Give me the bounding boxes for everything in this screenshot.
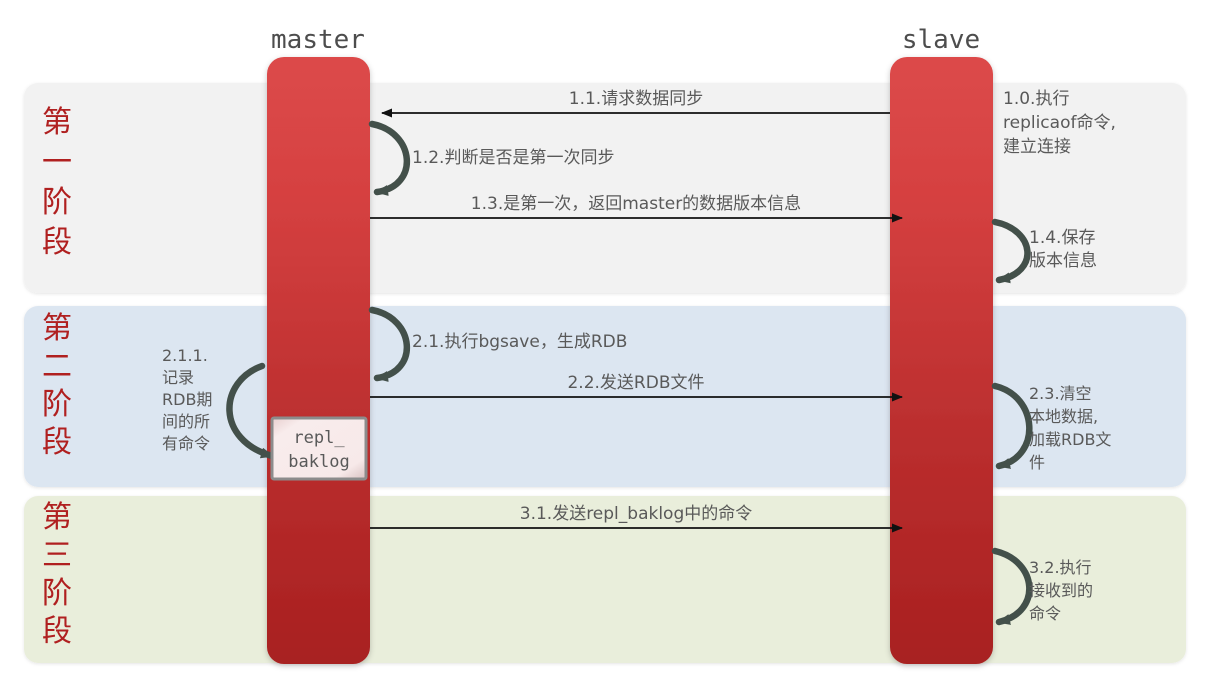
phase-3-char-0: 第: [42, 500, 72, 535]
replication-sequence-diagram: 第 一 阶 段 第 二 阶 段 第 三 阶 段 master slave 1.1…: [0, 0, 1224, 675]
self-action-2-1-1-line-2: RDB期: [162, 390, 212, 409]
sequence-diagram-canvas: 第 一 阶 段 第 二 阶 段 第 三 阶 段 master slave 1.1…: [0, 0, 1224, 675]
self-action-3-2-line-2: 命令: [1029, 604, 1061, 623]
self-action-2-1-label: 2.1.执行bgsave，生成RDB: [412, 332, 627, 352]
self-action-1-2-label: 1.2.判断是否是第一次同步: [412, 148, 614, 168]
phase-1-char-1: 一: [42, 145, 72, 180]
repl-baklog-line-0: repl_: [293, 428, 345, 448]
phase-3-char-1: 三: [42, 538, 72, 573]
self-action-2-1-1-line-1: 记录: [162, 368, 194, 387]
self-action-2-3-line-0: 2.3.清空: [1029, 384, 1092, 403]
self-action-3-2-line-0: 3.2.执行: [1029, 558, 1092, 577]
lifeline-title-slave: slave: [902, 25, 980, 55]
self-action-1-0-line-2: 建立连接: [1003, 137, 1071, 157]
repl-baklog-box[interactable]: repl_ baklog: [272, 418, 366, 479]
lifeline-master[interactable]: [267, 57, 370, 664]
self-action-1-4-line-1: 版本信息: [1029, 251, 1097, 271]
message-2-2-label: 2.2.发送RDB文件: [567, 373, 704, 393]
self-action-1-4-line-0: 1.4.保存: [1029, 228, 1095, 248]
message-1-3-label: 1.3.是第一次，返回master的数据版本信息: [471, 194, 801, 214]
self-action-2-1-1-line-0: 2.1.1.: [162, 346, 208, 365]
lifeline-slave[interactable]: [890, 57, 993, 664]
phase-2-char-1: 二: [42, 349, 72, 384]
self-action-3-2-line-1: 接收到的: [1029, 581, 1093, 600]
self-action-2-1-1-line-3: 间的所: [162, 412, 210, 431]
phase-1-char-3: 段: [42, 225, 72, 260]
lifeline-title-master: master: [271, 25, 365, 55]
phase-3-char-2: 阶: [42, 576, 72, 611]
phase-2-char-2: 阶: [42, 387, 72, 422]
phase-3-char-3: 段: [42, 614, 72, 649]
message-1-1-label: 1.1.请求数据同步: [569, 89, 703, 109]
repl-baklog-line-1: baklog: [288, 452, 349, 472]
self-action-2-1-1-line-4: 有命令: [162, 434, 210, 453]
message-3-1-label: 3.1.发送repl_baklog中的命令: [520, 504, 753, 524]
self-action-2-3-line-3: 件: [1029, 453, 1045, 472]
self-action-2-3-line-1: 本地数据,: [1029, 407, 1098, 426]
phase-2-char-3: 段: [42, 425, 72, 460]
self-action-2-3-line-2: 加载RDB文: [1029, 430, 1111, 449]
self-action-1-0-line-0: 1.0.执行: [1003, 89, 1069, 109]
phase-1-char-2: 阶: [42, 185, 72, 220]
phase-1-char-0: 第: [42, 105, 72, 140]
self-action-1-0-line-1: replicaof命令,: [1003, 113, 1116, 133]
phase-2-char-0: 第: [42, 311, 72, 346]
